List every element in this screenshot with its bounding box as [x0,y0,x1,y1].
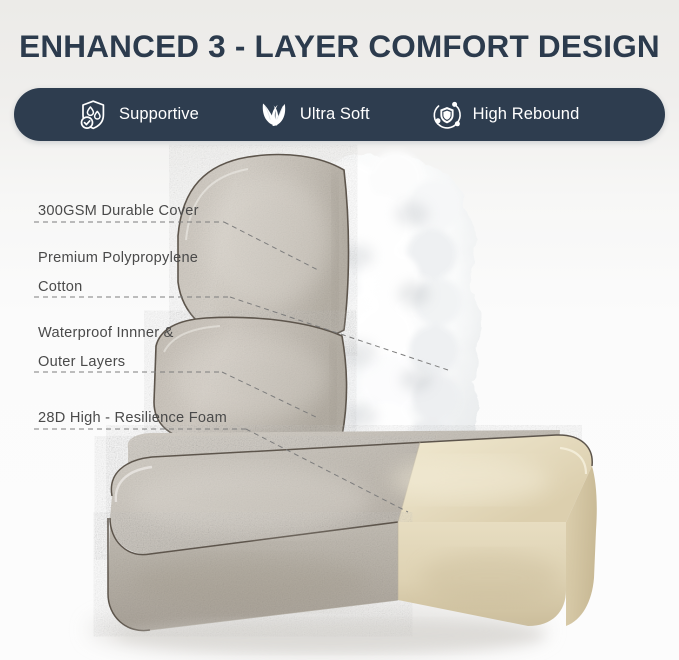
callout-line: 300GSM Durable Cover [38,197,199,226]
callout-label-cotton: Premium Polypropylene Cotton [38,244,198,302]
page-title: ENHANCED 3 - LAYER COMFORT DESIGN [0,28,679,65]
feature-badge-label: High Rebound [473,105,580,124]
callout-line: 28D High - Resilience Foam [38,404,227,433]
callout-label-foam: 28D High - Resilience Foam [38,404,227,433]
callout-line: Cotton [38,273,198,302]
callout-line: Waterproof Innner & [38,319,174,348]
callout-label-waterproof: Waterproof Innner & Outer Layers [38,319,174,377]
seat-cushion [108,435,597,631]
callout-line: Premium Polypropylene [38,244,198,273]
seat-contact-shadow [115,620,545,652]
feature-badge-label: Ultra Soft [300,105,370,124]
shield-droplet-check-icon [76,98,110,132]
feature-badge-label: Supportive [119,105,199,124]
callout-label-cover: 300GSM Durable Cover [38,197,199,226]
shield-orbit-icon [430,98,464,132]
callout-line: Outer Layers [38,348,174,377]
infographic-page: ENHANCED 3 - LAYER COMFORT DESIGN Suppor… [0,0,679,660]
feather-icon [257,98,291,132]
